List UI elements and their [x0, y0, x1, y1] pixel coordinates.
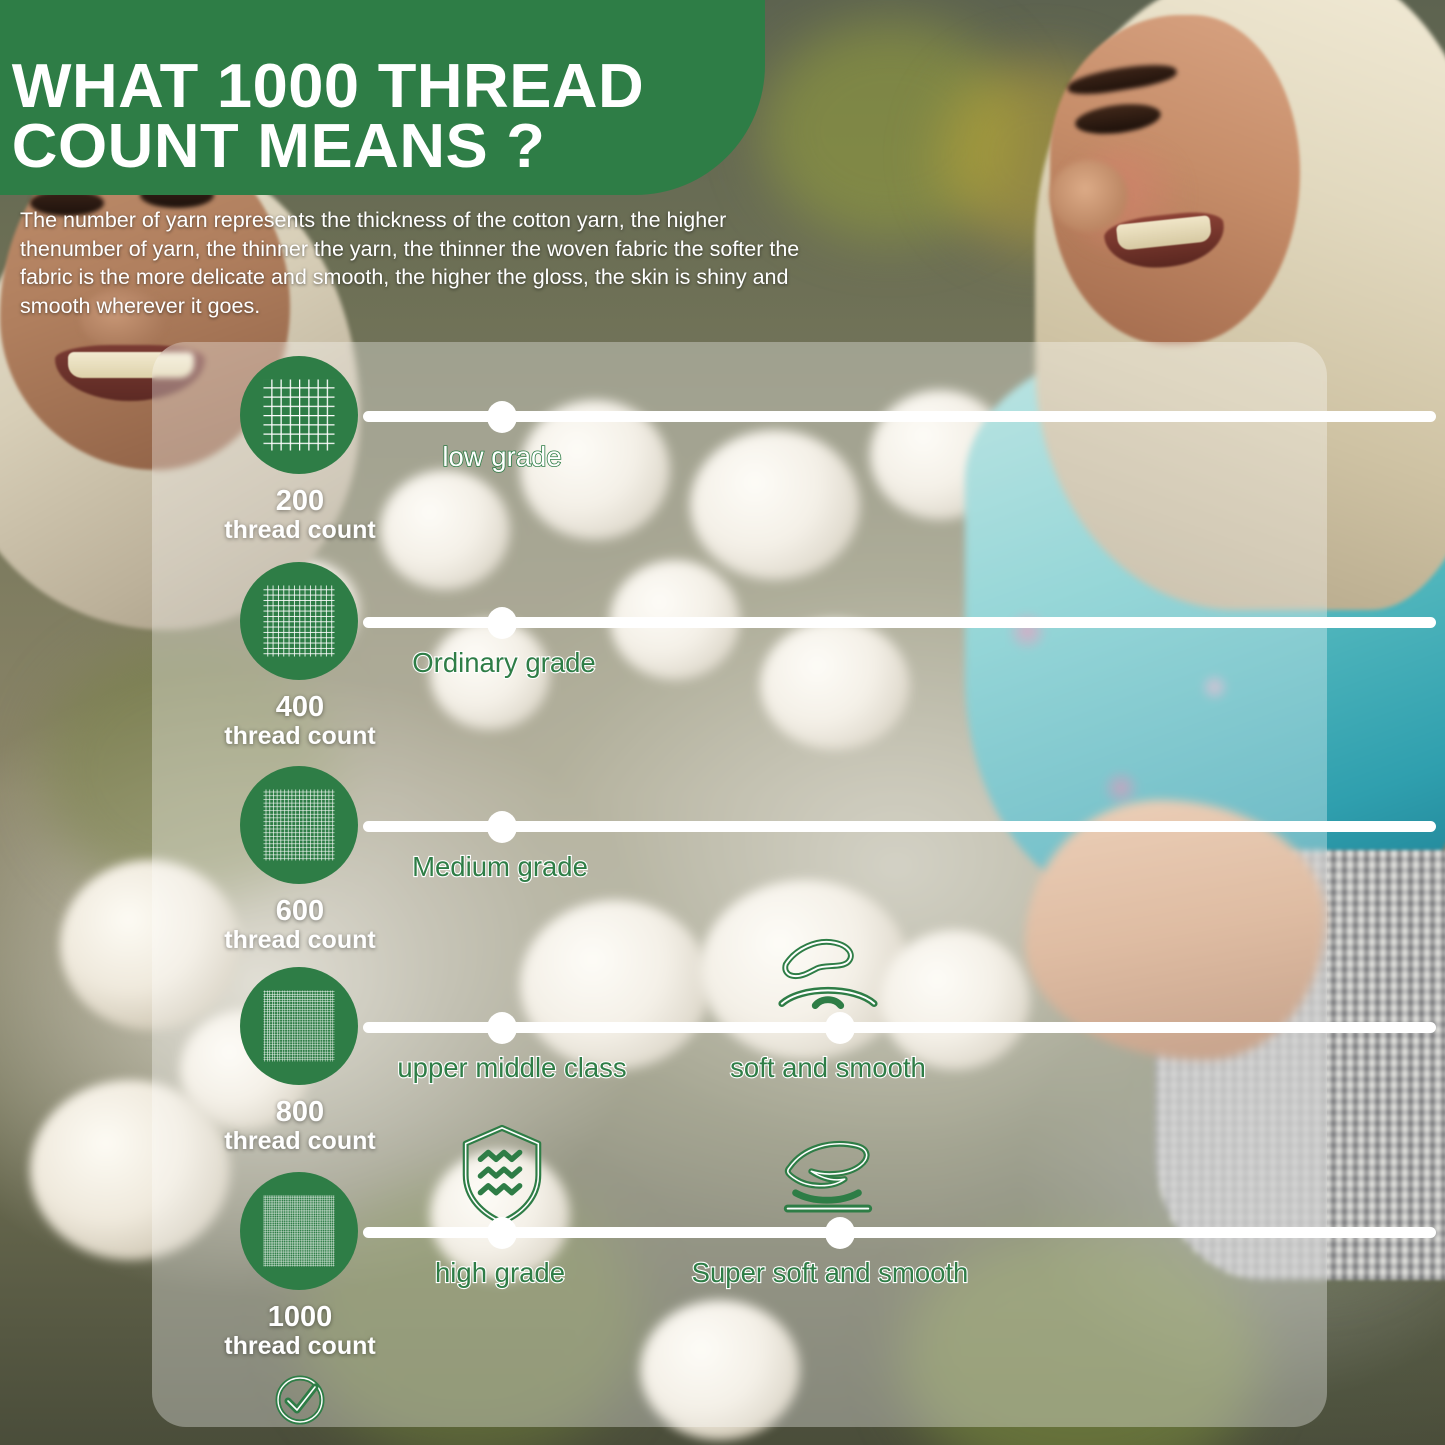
scale-track-600[interactable]: [363, 821, 1436, 832]
scale-dot-upper-middle-class[interactable]: [487, 1012, 517, 1044]
thread-count-row: 1000 thread count: [152, 1172, 1327, 1372]
mesh-grid-icon: [262, 788, 336, 862]
scale-dot-ordinary-grade[interactable]: [487, 607, 517, 639]
thread-count-number: 400: [172, 692, 428, 723]
mesh-grid-icon: [262, 1194, 336, 1268]
marker-label-low-grade: low grade: [442, 441, 561, 473]
header-banner: WHAT 1000 THREAD COUNT MEANS ?: [0, 0, 765, 195]
thread-count-number: 1000: [172, 1302, 428, 1333]
scale-track-200[interactable]: [363, 411, 1436, 422]
mesh-grid-icon: [262, 989, 336, 1063]
thread-count-row: 600 thread count Medium grade: [152, 766, 1327, 966]
marker-label-medium-grade: Medium grade: [412, 851, 588, 883]
page-title: WHAT 1000 THREAD COUNT MEANS ?: [12, 57, 644, 177]
scale-track-400[interactable]: [363, 617, 1436, 628]
thread-count-unit: thread count: [172, 517, 428, 544]
thread-count-row: 200 thread count low grade: [152, 356, 1327, 556]
marker-label-ordinary-grade: Ordinary grade: [412, 647, 595, 679]
page-title-line-2: COUNT MEANS ?: [12, 112, 546, 181]
marker-label-high-grade: high grade: [435, 1257, 565, 1289]
scale-dot-medium-grade[interactable]: [487, 811, 517, 843]
mesh-grid-icon: [262, 584, 336, 658]
scale-track-1000[interactable]: [363, 1227, 1436, 1238]
mesh-swatch-600: [240, 766, 358, 884]
mesh-swatch-1000: [240, 1172, 358, 1290]
scale-dot-soft-and-smooth[interactable]: [825, 1012, 855, 1044]
mesh-swatch-200: [240, 356, 358, 474]
scale-track-800[interactable]: [363, 1022, 1436, 1033]
thread-count-unit: thread count: [172, 1128, 428, 1155]
thread-count-label-400: 400 thread count: [172, 692, 428, 749]
marker-label-soft-and-smooth: soft and smooth: [730, 1052, 926, 1084]
check-circle-icon: [270, 1370, 330, 1430]
shield-waves-icon: [448, 1122, 556, 1214]
scale-dot-high-grade[interactable]: [487, 1217, 517, 1249]
thread-count-row: 800 thread count upper middle class soft…: [152, 967, 1327, 1167]
page-title-line-1: WHAT 1000 THREAD: [12, 52, 644, 121]
thread-count-label-200: 200 thread count: [172, 486, 428, 543]
feather-icon: [774, 1132, 882, 1224]
thread-count-number: 800: [172, 1097, 428, 1128]
scale-dot-super-soft-and-smooth[interactable]: [825, 1217, 855, 1249]
thread-count-number: 600: [172, 896, 428, 927]
thread-count-label-800: 800 thread count: [172, 1097, 428, 1154]
infographic-stage: WHAT 1000 THREAD COUNT MEANS ? The numbe…: [0, 0, 1445, 1445]
marker-label-upper-middle-class: upper middle class: [397, 1052, 626, 1084]
thread-count-unit: thread count: [172, 1333, 428, 1360]
thread-count-unit: thread count: [172, 927, 428, 954]
thread-count-row: 400 thread count Ordinary grade: [152, 562, 1327, 762]
hand-touch-icon: [774, 929, 882, 1021]
thread-count-panel: 200 thread count low grade 400 thread c: [152, 342, 1327, 1427]
marker-label-super-soft-and-smooth: Super soft and smooth: [692, 1257, 969, 1289]
intro-paragraph: The number of yarn represents the thickn…: [20, 206, 810, 320]
thread-count-number: 200: [172, 486, 428, 517]
scale-dot-low-grade[interactable]: [487, 401, 517, 433]
thread-count-unit: thread count: [172, 723, 428, 750]
mesh-swatch-400: [240, 562, 358, 680]
mesh-grid-icon: [262, 378, 336, 452]
mesh-swatch-800: [240, 967, 358, 1085]
thread-count-label-1000: 1000 thread count: [172, 1302, 428, 1359]
thread-count-label-600: 600 thread count: [172, 896, 428, 953]
